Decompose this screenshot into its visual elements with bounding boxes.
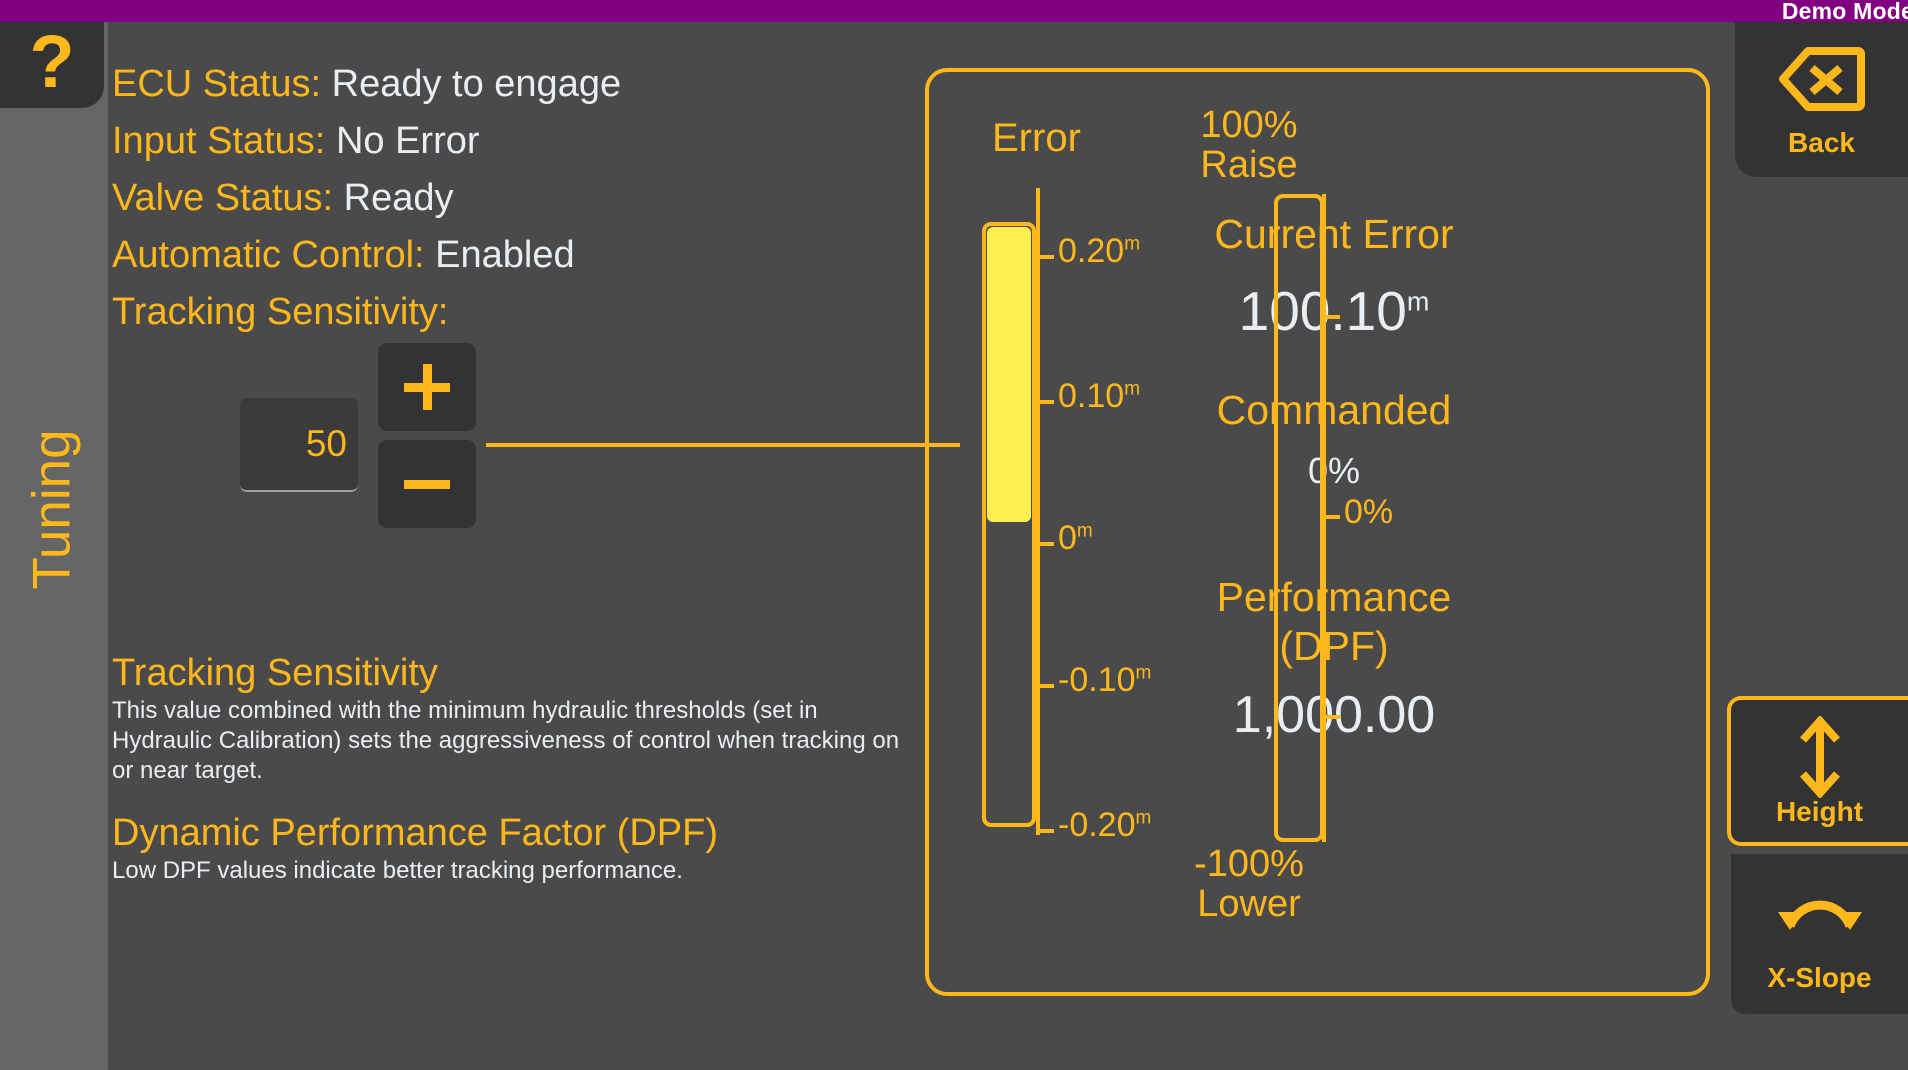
demo-mode-banner: Demo Mode bbox=[0, 0, 1908, 22]
status-row-automatic-control: Automatic Control: Enabled bbox=[112, 227, 892, 284]
left-sidebar: Tuning bbox=[0, 22, 108, 1070]
error-tick bbox=[1036, 542, 1054, 546]
back-button[interactable]: Back bbox=[1735, 22, 1908, 177]
question-mark-icon: ? bbox=[29, 25, 74, 99]
gauge-panel: Error 0.20m 0.10m 0m -0.10m -0.20m Curre… bbox=[925, 68, 1710, 996]
help-body-tracking-sensitivity: This value combined with the minimum hyd… bbox=[112, 696, 902, 786]
error-axis-line bbox=[1036, 188, 1040, 835]
status-row-valve: Valve Status: Ready bbox=[112, 170, 892, 227]
plus-icon bbox=[404, 364, 450, 410]
status-label: Tracking Sensitivity: bbox=[112, 291, 448, 333]
error-tick bbox=[1036, 829, 1054, 833]
status-row-ecu: ECU Status: Ready to engage bbox=[112, 56, 892, 113]
output-gauge-top-caption: 100%Raise bbox=[1159, 105, 1339, 185]
output-gauge-bottom-caption: -100%Lower bbox=[1159, 844, 1339, 924]
output-bar-track bbox=[1274, 194, 1324, 842]
output-tick bbox=[1322, 515, 1340, 519]
rotation-arrows-icon bbox=[1776, 880, 1864, 947]
minus-icon bbox=[404, 461, 450, 507]
error-gauge-title: Error bbox=[992, 116, 1081, 161]
error-bar-fill bbox=[987, 227, 1031, 522]
section-title-tuning: Tuning bbox=[22, 385, 83, 635]
error-tick-label: 0m bbox=[1058, 519, 1093, 558]
commanded-value: 0% bbox=[1169, 450, 1499, 492]
error-tick-label: -0.20m bbox=[1058, 806, 1151, 845]
output-tick bbox=[1322, 715, 1340, 719]
status-label: Input Status: bbox=[112, 120, 325, 162]
help-heading-dpf: Dynamic Performance Factor (DPF) bbox=[112, 810, 902, 856]
help-body-dpf: Low DPF values indicate better tracking … bbox=[112, 856, 902, 886]
error-tick bbox=[1036, 684, 1054, 688]
tracking-sensitivity-value: 50 bbox=[306, 423, 347, 465]
status-value: Enabled bbox=[435, 234, 574, 276]
commanded-title: Commanded bbox=[1169, 387, 1499, 434]
output-zero-label: 0% bbox=[1344, 493, 1393, 532]
performance-title: Performance bbox=[1169, 574, 1499, 621]
tracking-sensitivity-input[interactable]: 50 bbox=[240, 398, 358, 492]
help-button[interactable]: ? bbox=[0, 22, 104, 108]
xslope-button-label: X-Slope bbox=[1731, 962, 1908, 994]
demo-mode-label: Demo Mode bbox=[1782, 0, 1908, 25]
tracking-sensitivity-stepper: 50 bbox=[240, 398, 960, 558]
status-label: Automatic Control: bbox=[112, 234, 425, 276]
height-mode-button[interactable]: Height bbox=[1727, 696, 1908, 846]
current-error-value: 100.10m bbox=[1169, 279, 1499, 343]
decrease-sensitivity-button[interactable] bbox=[378, 440, 476, 528]
xslope-mode-button[interactable]: X-Slope bbox=[1731, 854, 1908, 1014]
status-value: No Error bbox=[336, 120, 480, 162]
status-list: ECU Status: Ready to engage Input Status… bbox=[112, 56, 892, 341]
help-heading-tracking-sensitivity: Tracking Sensitivity bbox=[112, 650, 902, 696]
error-tick-label: 0.20m bbox=[1058, 232, 1140, 271]
error-tick-label: 0.10m bbox=[1058, 377, 1140, 416]
current-error-title: Current Error bbox=[1169, 211, 1499, 258]
error-tick bbox=[1036, 400, 1054, 404]
help-text-block: Tracking Sensitivity This value combined… bbox=[112, 650, 902, 886]
error-tick bbox=[1036, 255, 1054, 259]
back-button-label: Back bbox=[1735, 127, 1908, 159]
height-arrow-icon bbox=[1797, 716, 1843, 803]
status-value: Ready bbox=[344, 177, 454, 219]
status-label: Valve Status: bbox=[112, 177, 333, 219]
status-label: ECU Status: bbox=[112, 63, 321, 105]
back-close-icon bbox=[1778, 46, 1866, 117]
performance-subtitle: (DPF) bbox=[1169, 623, 1499, 670]
height-button-label: Height bbox=[1731, 796, 1908, 828]
status-value: Ready to engage bbox=[332, 63, 621, 105]
status-row-tracking-sensitivity: Tracking Sensitivity: bbox=[112, 284, 892, 341]
output-tick bbox=[1322, 315, 1340, 319]
status-row-input: Input Status: No Error bbox=[112, 113, 892, 170]
stepper-connector-line bbox=[486, 443, 960, 447]
increase-sensitivity-button[interactable] bbox=[378, 343, 476, 431]
error-tick-label: -0.10m bbox=[1058, 661, 1151, 700]
